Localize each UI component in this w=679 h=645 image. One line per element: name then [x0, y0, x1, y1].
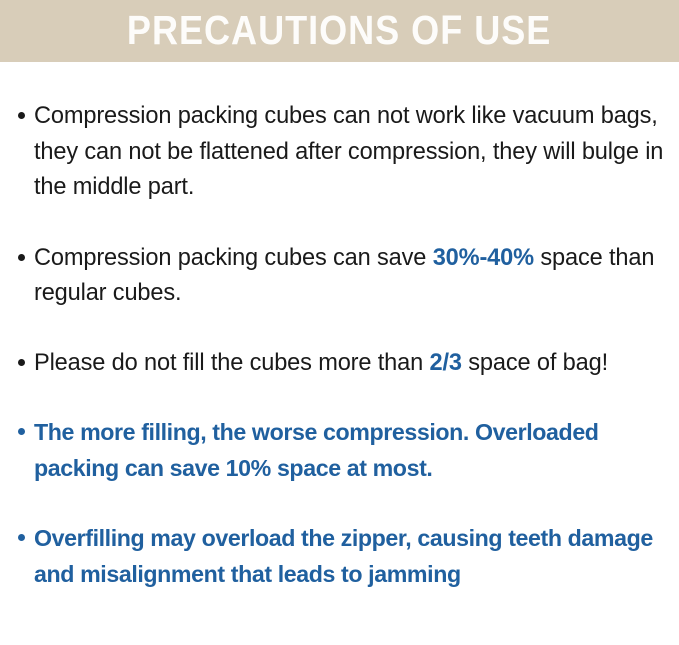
precautions-panel: PRECAUTIONS OF USE Compression packing c… — [0, 0, 679, 645]
bullet-dot-icon — [18, 112, 25, 119]
list-item: Compression packing cubes can not work l… — [0, 99, 679, 206]
list-item: Compression packing cubes can save 30%-4… — [0, 241, 679, 312]
list-item-highlight-2: 30%-40% — [433, 245, 534, 271]
list-item-text-1: Compression packing cubes can not work l… — [34, 103, 663, 200]
list-item-highlight-3: 2/3 — [430, 350, 462, 376]
list-item-text-3b: space of bag! — [462, 350, 608, 376]
precautions-list: Compression packing cubes can not work l… — [0, 99, 679, 592]
bullet-dot-icon — [18, 428, 25, 435]
list-item-text-2a: Compression packing cubes can save — [34, 245, 433, 271]
precautions-content: Compression packing cubes can not work l… — [0, 62, 679, 592]
list-item: Overfilling may overload the zipper, cau… — [0, 521, 679, 592]
page-title: PRECAUTIONS OF USE — [127, 10, 551, 51]
bullet-dot-icon — [18, 254, 25, 261]
bullet-dot-icon — [18, 359, 25, 366]
list-item: Please do not fill the cubes more than 2… — [0, 346, 679, 382]
header-banner: PRECAUTIONS OF USE — [0, 0, 679, 62]
list-item-text-5: Overfilling may overload the zipper, cau… — [34, 525, 653, 587]
bullet-dot-icon — [18, 534, 25, 541]
list-item: The more filling, the worse compression.… — [0, 415, 679, 486]
list-item-text-4: The more filling, the worse compression.… — [34, 419, 599, 481]
list-item-text-3a: Please do not fill the cubes more than — [34, 350, 430, 376]
